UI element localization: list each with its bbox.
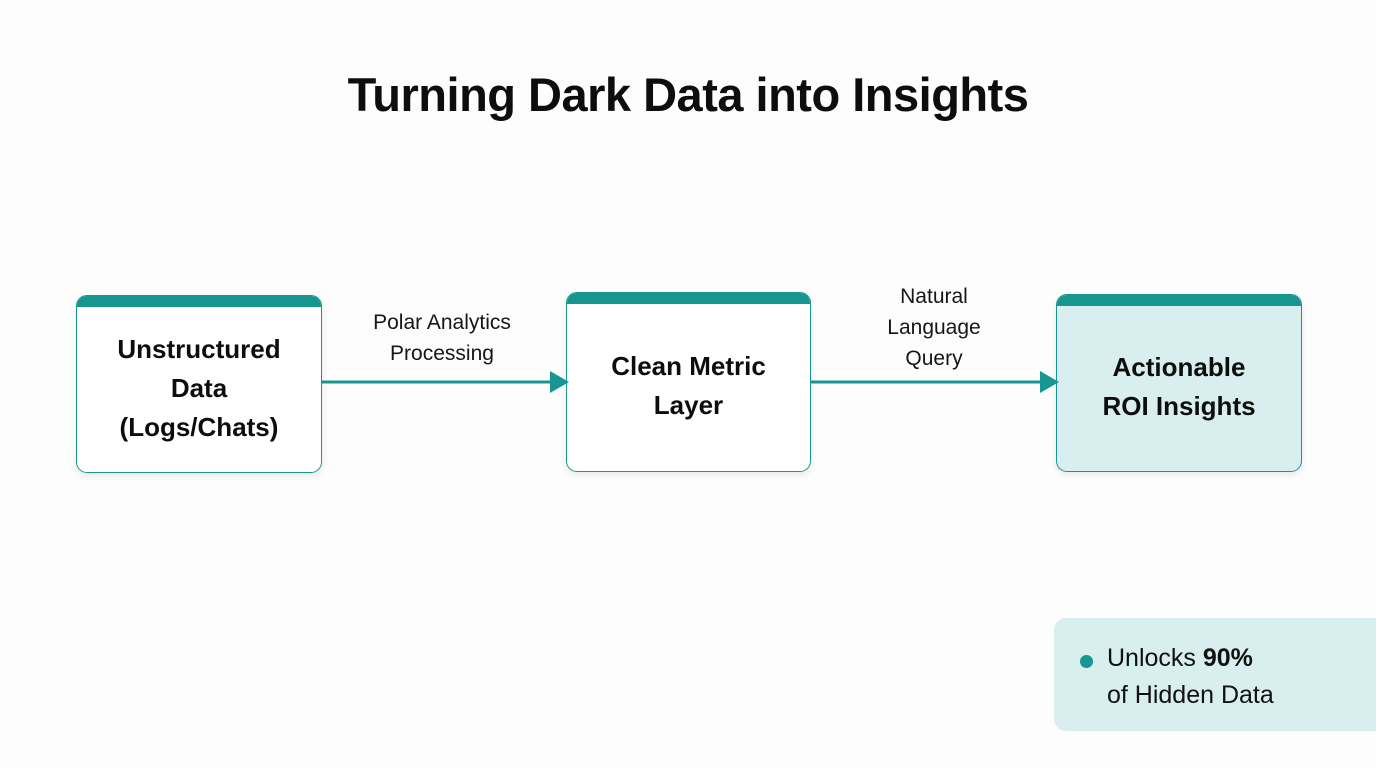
flow-node-actionable-roi-insights[interactable]: Actionable ROI Insights — [1056, 294, 1302, 472]
callout-highlight-value: 90% — [1203, 644, 1253, 672]
bullet-dot-icon — [1080, 655, 1093, 668]
node-cap-bar — [77, 296, 321, 307]
node-cap-bar — [567, 293, 810, 304]
flow-node-label: Clean Metric Layer — [611, 339, 766, 425]
flow-node-label: Unstructured Data (Logs/Chats) — [117, 322, 280, 447]
callout-box: Unlocks 90%of Hidden Data — [1054, 618, 1376, 731]
callout-line1-prefix: Unlocks — [1107, 644, 1203, 672]
diagram-canvas: Turning Dark Data into Insights Unstruct… — [0, 0, 1376, 768]
flow-node-label: Actionable ROI Insights — [1102, 340, 1255, 426]
flow-edge-label-polar-analytics: Polar Analytics Processing — [326, 307, 558, 369]
flow-node-clean-metric-layer[interactable]: Clean Metric Layer — [566, 292, 811, 472]
callout-line2: of Hidden Data — [1107, 681, 1274, 709]
flow-edge-label-natural-language-query: Natural Language Query — [818, 281, 1050, 374]
callout-text: Unlocks 90%of Hidden Data — [1107, 640, 1274, 714]
flow-node-unstructured-data[interactable]: Unstructured Data (Logs/Chats) — [76, 295, 322, 473]
page-title: Turning Dark Data into Insights — [0, 66, 1376, 124]
node-cap-bar — [1057, 295, 1301, 306]
